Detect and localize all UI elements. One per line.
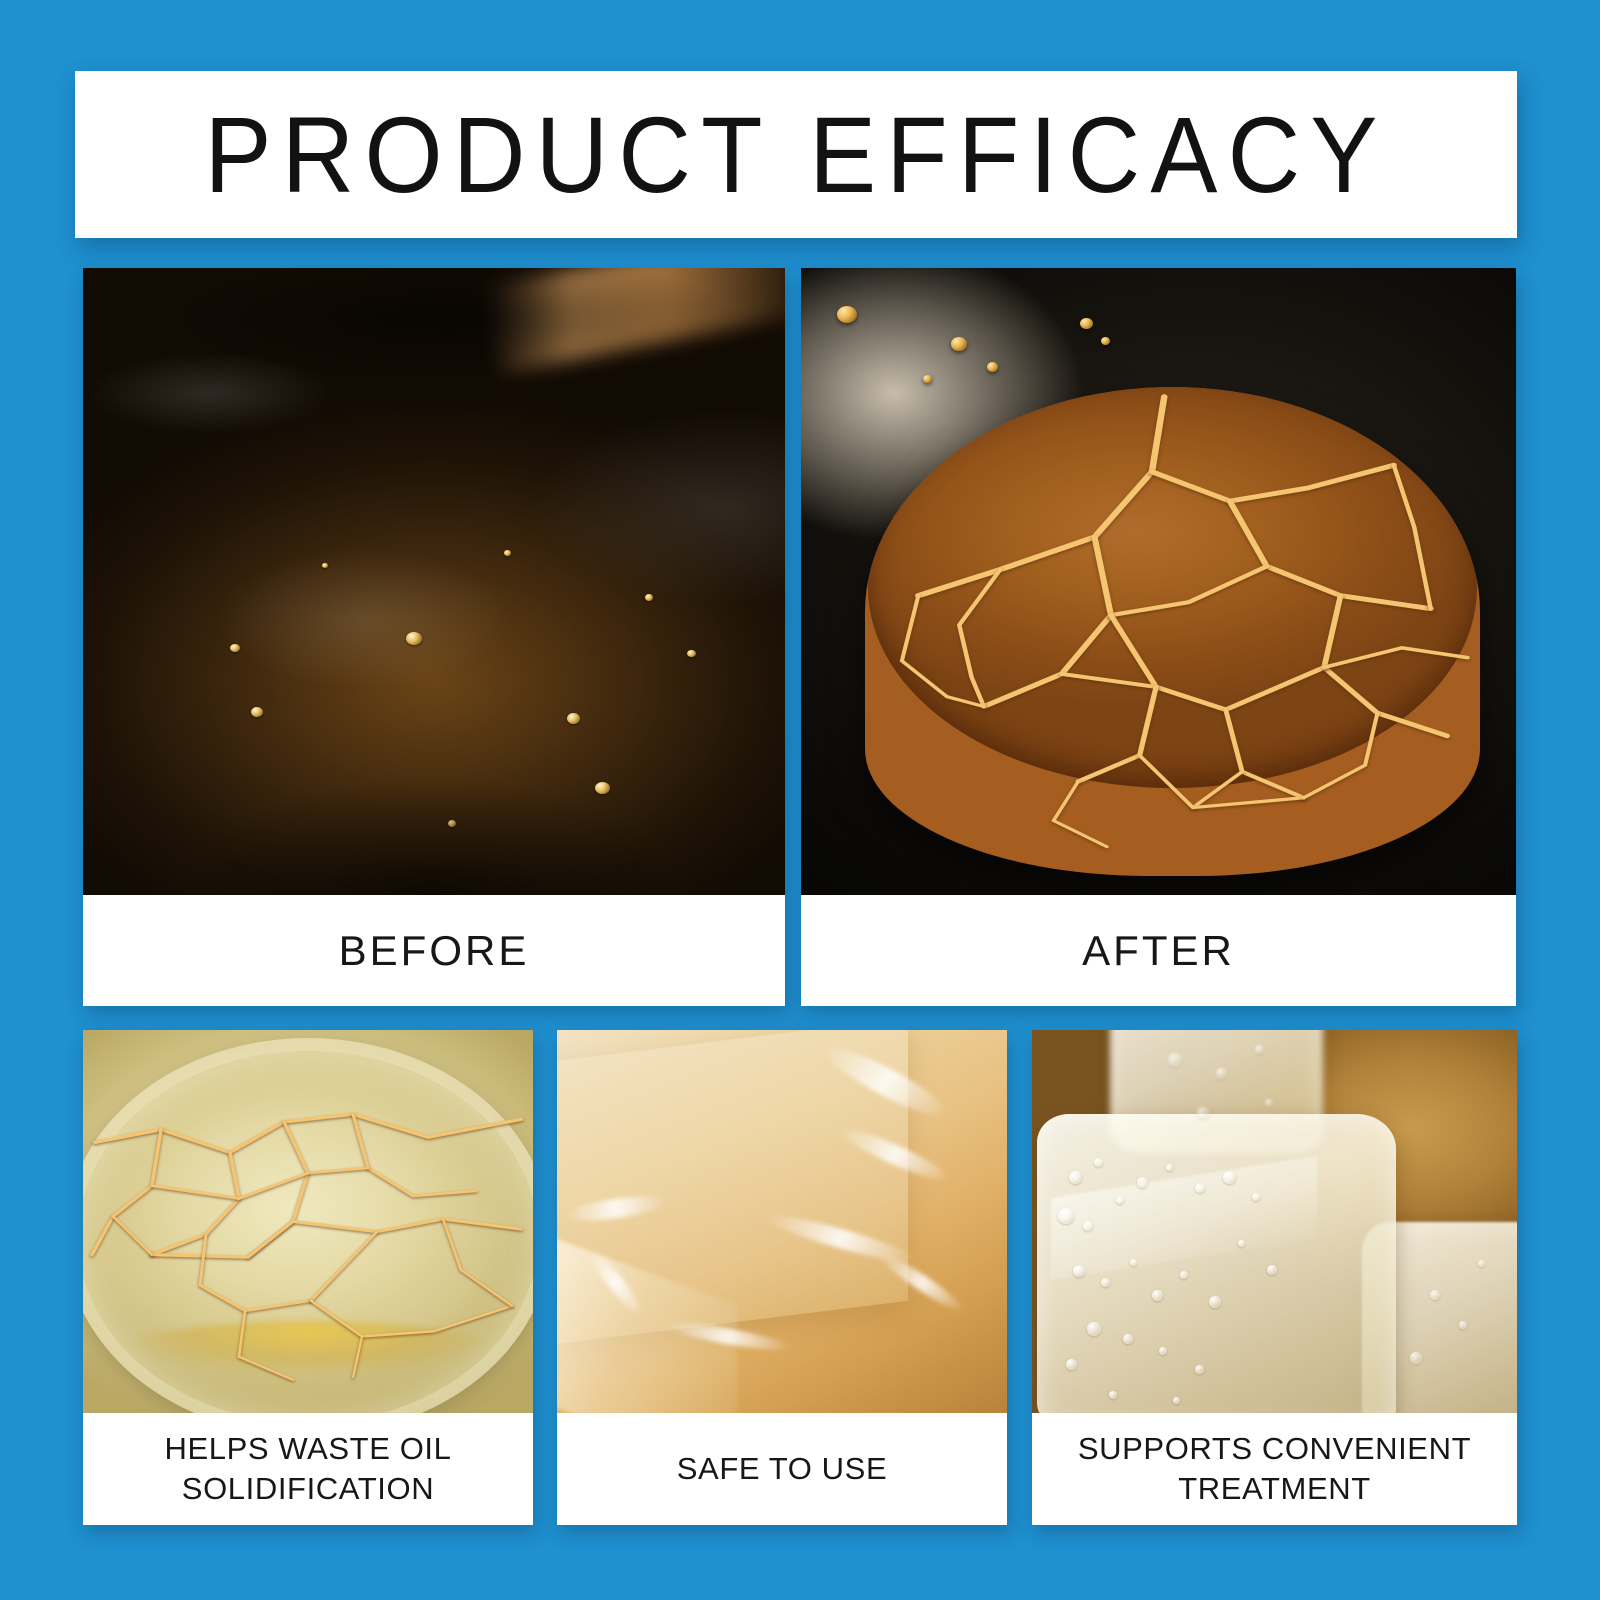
feature-photo-convenient-treatment: [1032, 1030, 1517, 1413]
gel-dish-image: [83, 1030, 533, 1413]
before-caption: BEFORE: [83, 895, 785, 1006]
gel-cube-front: [1037, 1114, 1396, 1413]
feature-caption-line1: SAFE TO USE: [677, 1449, 887, 1489]
feature-caption-solidification: HELPS WASTE OIL SOLIDIFICATION: [83, 1413, 533, 1525]
gel-cube-top-face: [1051, 1156, 1317, 1280]
skillet-waste-oil-image: [83, 268, 785, 895]
feature-photo-safe-to-use: [557, 1030, 1007, 1413]
feature-photo-solidification: [83, 1030, 533, 1413]
after-card: AFTER: [801, 268, 1516, 1006]
page-title: PRODUCT EFFICACY: [204, 101, 1387, 209]
feature-card-convenient-treatment: SUPPORTS CONVENIENT TREATMENT: [1032, 1030, 1517, 1525]
title-banner: PRODUCT EFFICACY: [75, 71, 1517, 238]
feature-caption-line2: SOLIDIFICATION: [165, 1469, 452, 1509]
dish-gold-edge: [83, 1321, 533, 1413]
feature-caption-convenient-treatment: SUPPORTS CONVENIENT TREATMENT: [1032, 1413, 1517, 1525]
gel-cubes-image: [1032, 1030, 1517, 1413]
feature-caption-safe-to-use: SAFE TO USE: [557, 1413, 1007, 1525]
feature-caption-line2: TREATMENT: [1078, 1469, 1471, 1509]
feature-caption-line1: SUPPORTS CONVENIENT: [1078, 1429, 1471, 1469]
after-photo: [801, 268, 1516, 895]
puck-body: [865, 387, 1480, 876]
solidified-oil-puck-image: [801, 268, 1516, 895]
feature-caption-line1: HELPS WASTE OIL: [165, 1429, 452, 1469]
before-photo: [83, 268, 785, 895]
after-caption: AFTER: [801, 895, 1516, 1006]
gel-block-image: [557, 1030, 1007, 1413]
before-card: BEFORE: [83, 268, 785, 1006]
puck-top-surface: [868, 387, 1477, 788]
feature-card-solidification: HELPS WASTE OIL SOLIDIFICATION: [83, 1030, 533, 1525]
feature-card-safe-to-use: SAFE TO USE: [557, 1030, 1007, 1525]
